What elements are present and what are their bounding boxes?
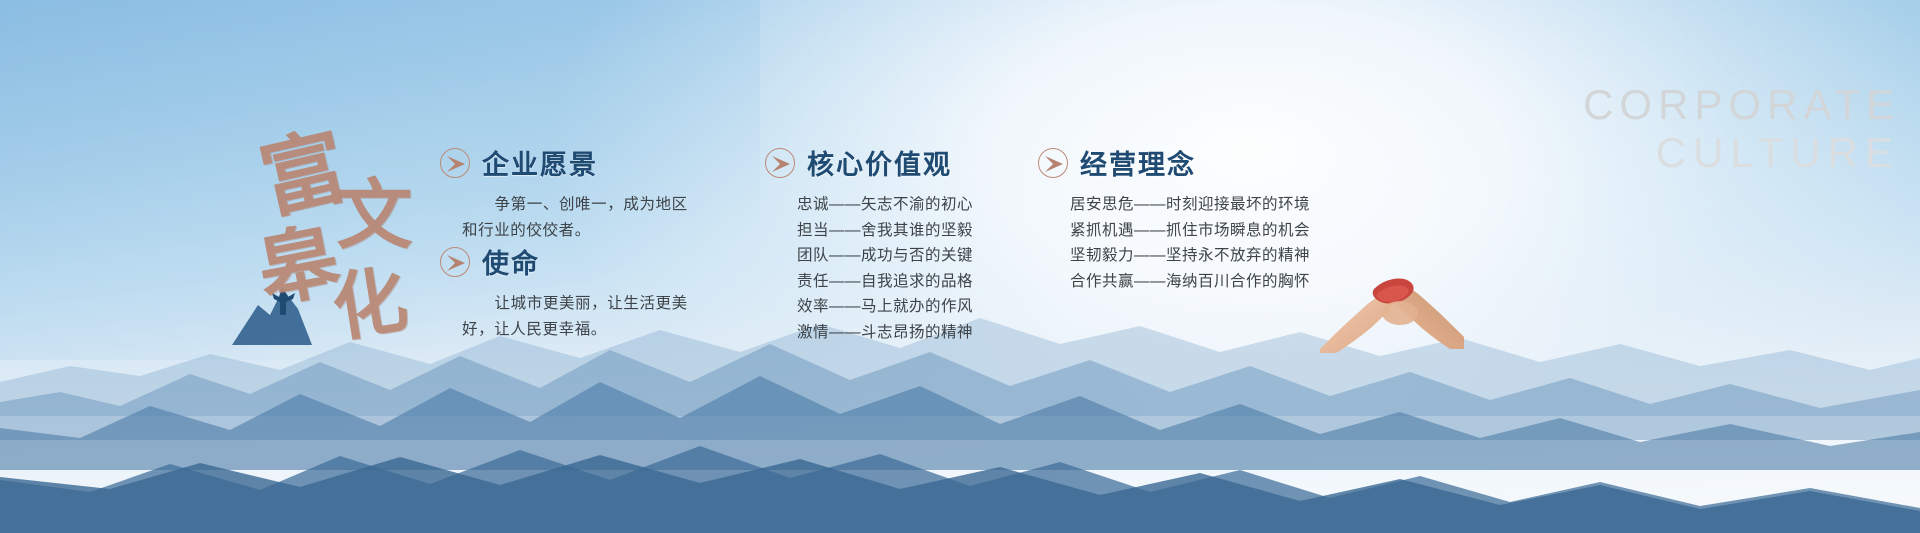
corporate-culture-banner: CORPORATE CULTURE 富 皋 文 化 企业愿景 争第一、创唯一，成… [0, 0, 1920, 533]
section-core-values: 核心价值观 忠诚——矢志不渝的初心 担当——舍我其谁的坚毅 团队——成功与否的关… [765, 143, 1055, 345]
list-item: 效率——马上就办的作风 [797, 294, 1055, 320]
arrow-circle-icon [1038, 148, 1068, 178]
philosophy-list: 居安思危——时刻迎接最坏的环境 紧抓机遇——抓住市场瞬息的机会 坚韧毅力——坚持… [1038, 192, 1358, 294]
philosophy-title: 经营理念 [1080, 143, 1196, 182]
vision-heading: 企业愿景 [440, 143, 720, 182]
section-mission: 使命 让城市更美丽，让生活更美 好，让人民更幸福。 [440, 242, 740, 343]
watermark-line-2: CULTURE [1583, 132, 1900, 174]
list-item: 激情——斗志昂扬的精神 [797, 320, 1055, 346]
mission-body-line-2: 好，让人民更幸福。 [462, 321, 607, 338]
section-philosophy: 经营理念 居安思危——时刻迎接最坏的环境 紧抓机遇——抓住市场瞬息的机会 坚韧毅… [1038, 143, 1358, 294]
list-item: 责任——自我追求的品格 [797, 269, 1055, 295]
mountain-layer-base [0, 415, 1920, 533]
list-item: 合作共赢——海纳百川合作的胸怀 [1070, 269, 1358, 295]
arrow-circle-icon [440, 247, 470, 277]
mission-body: 让城市更美丽，让生活更美 好，让人民更幸福。 [440, 291, 740, 343]
watermark: CORPORATE CULTURE [1583, 84, 1900, 174]
arrow-circle-icon [765, 148, 795, 178]
list-item: 紧抓机遇——抓住市场瞬息的机会 [1070, 218, 1358, 244]
mission-title: 使命 [482, 242, 540, 281]
section-vision: 企业愿景 争第一、创唯一，成为地区 和行业的佼佼者。 [440, 143, 720, 244]
list-item: 忠诚——矢志不渝的初心 [797, 192, 1055, 218]
mountain-layer-near [0, 330, 1920, 470]
philosophy-heading: 经营理念 [1038, 143, 1358, 182]
mountain-layer-front [0, 372, 1920, 533]
core-values-list: 忠诚——矢志不渝的初心 担当——舍我其谁的坚毅 团队——成功与否的关键 责任——… [765, 192, 1055, 345]
vision-body: 争第一、创唯一，成为地区 和行业的佼佼者。 [440, 192, 720, 244]
core-values-heading: 核心价值观 [765, 143, 1055, 182]
arrow-circle-icon [440, 148, 470, 178]
list-item: 担当——舍我其谁的坚毅 [797, 218, 1055, 244]
vision-body-line-2: 和行业的佼佼者。 [462, 222, 591, 239]
calligraphy-fuhao-wenhua: 富 皋 文 化 [234, 99, 431, 331]
vision-title: 企业愿景 [482, 143, 598, 182]
mission-heading: 使命 [440, 242, 740, 281]
watermark-line-1: CORPORATE [1583, 84, 1900, 126]
vision-body-line-1: 争第一、创唯一，成为地区 [462, 196, 688, 213]
list-item: 团队——成功与否的关键 [797, 243, 1055, 269]
core-values-title: 核心价值观 [807, 143, 952, 182]
mission-body-line-1: 让城市更美丽，让生活更美 [462, 295, 688, 312]
clasped-hands-image [1316, 253, 1466, 353]
list-item: 居安思危——时刻迎接最坏的环境 [1070, 192, 1358, 218]
list-item: 坚韧毅力——坚持永不放弃的精神 [1070, 243, 1358, 269]
